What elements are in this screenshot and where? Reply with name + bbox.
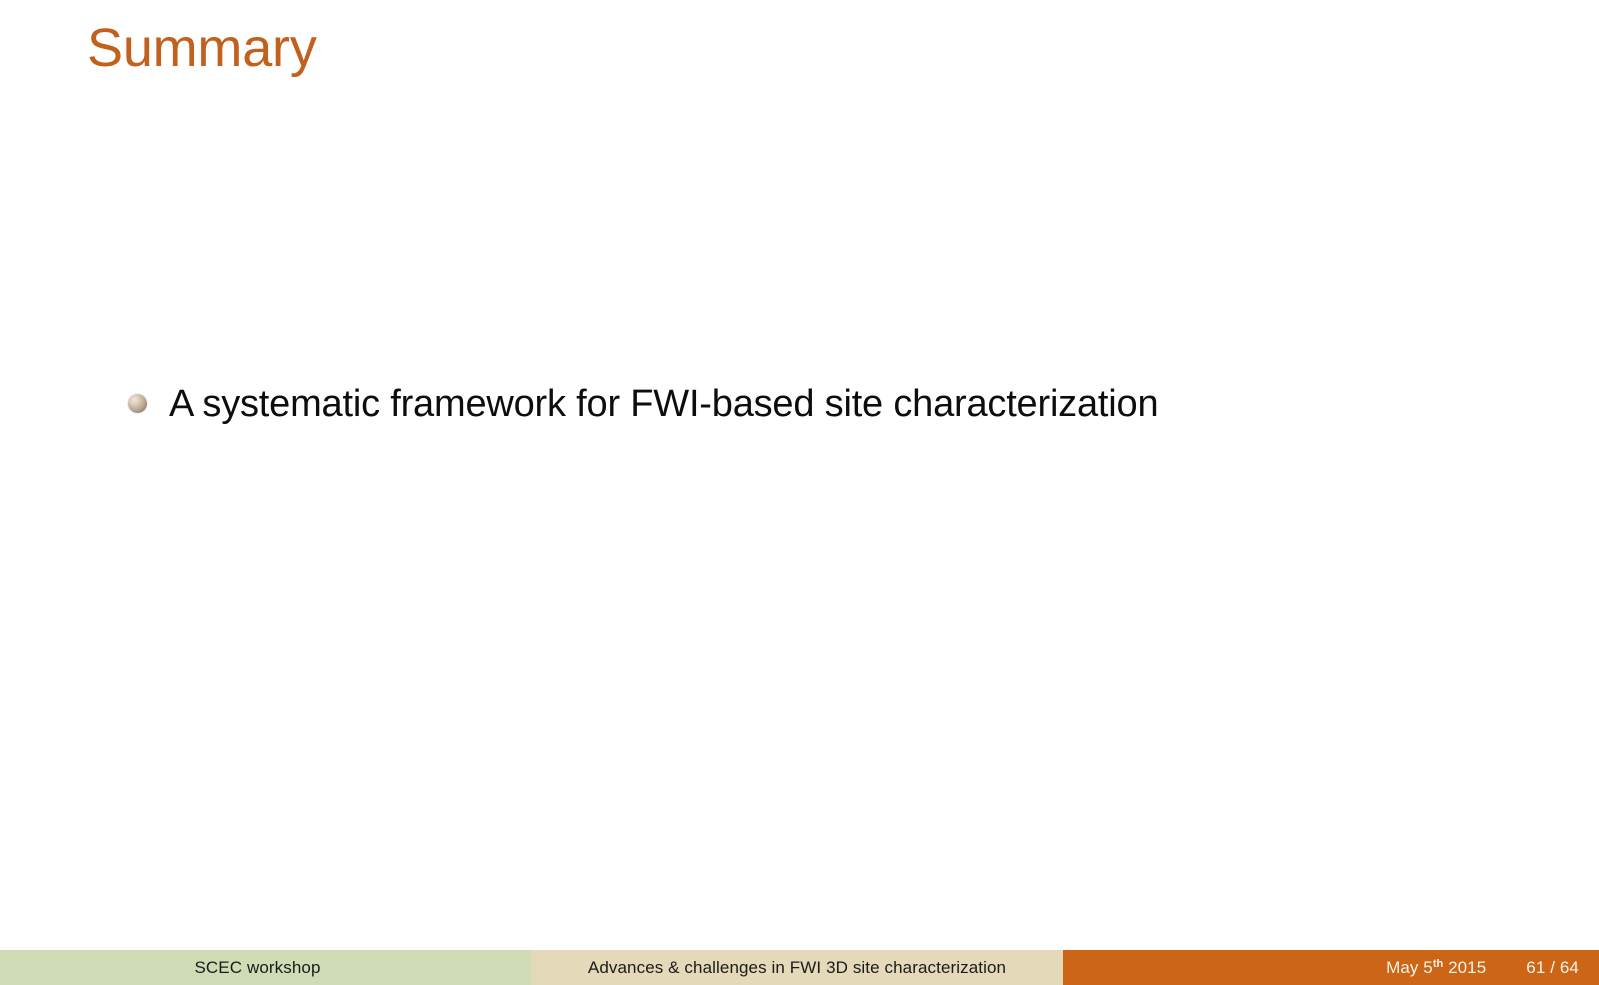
footer-date-suffix: 2015 — [1443, 958, 1486, 978]
slide-content: A systematic framework for FWI-based sit… — [0, 0, 1599, 940]
footer-date-label: May 5th 2015 — [1386, 958, 1486, 978]
footer-event-label: SCEC workshop — [194, 958, 320, 978]
footer-segment-talk-title: Advances & challenges in FWI 3D site cha… — [531, 950, 1063, 985]
sphere-bullet-icon — [128, 394, 147, 413]
footer-bar: SCEC workshop Advances & challenges in F… — [0, 950, 1599, 985]
slide-canvas: Summary A systematic framework for FWI-b… — [0, 0, 1599, 985]
footer-talk-title-label: Advances & challenges in FWI 3D site cha… — [588, 958, 1006, 978]
list-item: A systematic framework for FWI-based sit… — [128, 380, 1158, 429]
footer-segment-date-page: May 5th 2015 61 / 64 — [1063, 950, 1599, 985]
bullet-list: A systematic framework for FWI-based sit… — [128, 380, 1158, 447]
footer-date-prefix: May 5 — [1386, 958, 1433, 978]
footer-page-number: 61 / 64 — [1526, 958, 1579, 978]
footer-segment-event: SCEC workshop — [0, 950, 531, 985]
bullet-item-label: A systematic framework for FWI-based sit… — [169, 380, 1158, 429]
